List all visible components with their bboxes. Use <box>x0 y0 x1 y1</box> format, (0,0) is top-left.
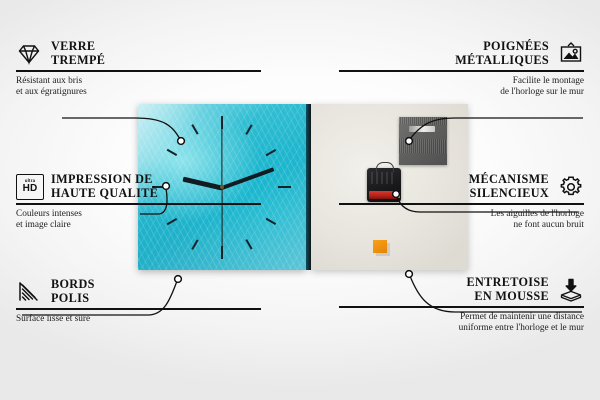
gear-icon <box>558 174 584 200</box>
feature-desc-line2: ne font aucun bruit <box>339 220 584 231</box>
clock-tick <box>245 124 252 134</box>
feature-impression-haute-qualite: ultra HD IMPRESSION DE HAUTE QUALITÉ Cou… <box>16 173 261 231</box>
feature-rule <box>339 70 584 71</box>
hanger-loop <box>376 162 394 172</box>
feature-desc-line2: uniforme entre l'horloge et le mur <box>339 323 584 334</box>
feature-header: VERRE TREMPÉ <box>16 40 261 67</box>
clock-tick <box>266 149 276 156</box>
polished-edge-icon <box>16 279 42 305</box>
feature-desc-line1: Résistant aux bris <box>16 76 261 87</box>
feature-header: ENTRETOISE EN MOUSSE <box>339 276 584 303</box>
foam-spacer-pad <box>373 240 387 253</box>
feature-title: MÉCANISME SILENCIEUX <box>469 173 549 200</box>
feature-bords-polis: BORDS POLIS Surface lisse et sûre <box>16 278 261 325</box>
feature-poignees-metalliques: POIGNÉES MÉTALLIQUES Facilite le montage… <box>339 40 584 98</box>
feature-desc-line1: Couleurs intenses <box>16 209 261 220</box>
feature-desc-line1: Surface lisse et sûre <box>16 314 261 325</box>
clock-tick <box>266 218 276 225</box>
feature-rule <box>339 306 584 307</box>
hanger-slot <box>409 126 435 132</box>
feature-rule <box>339 203 584 204</box>
feature-header: MÉCANISME SILENCIEUX <box>339 173 584 200</box>
feature-rule <box>16 308 261 309</box>
feature-title: POIGNÉES MÉTALLIQUES <box>455 40 549 67</box>
feature-header: POIGNÉES MÉTALLIQUES <box>339 40 584 67</box>
clock-tick <box>167 149 177 156</box>
feature-rule <box>16 203 261 204</box>
clock-tick <box>191 239 198 249</box>
feature-title: IMPRESSION DE HAUTE QUALITÉ <box>51 173 158 200</box>
feature-desc-line2: de l'horloge sur le mur <box>339 87 584 98</box>
feature-desc-line1: Facilite le montage <box>339 76 584 87</box>
feature-entretoise-en-mousse: ENTRETOISE EN MOUSSE Permet de maintenir… <box>339 276 584 334</box>
feature-header: BORDS POLIS <box>16 278 261 305</box>
infographic-canvas: VERRE TREMPÉ Résistant aux bris et aux é… <box>0 0 600 400</box>
feature-verre-trempe: VERRE TREMPÉ Résistant aux bris et aux é… <box>16 40 261 98</box>
feature-desc-line2: et image claire <box>16 220 261 231</box>
clock-tick <box>245 239 252 249</box>
feature-desc-line1: Les aiguilles de l'horloge <box>339 209 584 220</box>
feature-title: VERRE TREMPÉ <box>51 40 105 67</box>
diamond-icon <box>16 41 42 67</box>
ultra-hd-icon-main-text: HD <box>23 184 38 194</box>
picture-frame-hook-icon <box>558 41 584 67</box>
feature-desc-line2: et aux égratignures <box>16 87 261 98</box>
ultra-hd-icon: ultra HD <box>16 174 42 200</box>
feature-desc-line1: Permet de maintenir une distance <box>339 312 584 323</box>
feature-title: ENTRETOISE EN MOUSSE <box>466 276 549 303</box>
metal-hanger-plate <box>399 117 447 165</box>
clock-tick <box>278 186 291 188</box>
feature-rule <box>16 70 261 71</box>
feature-title: BORDS POLIS <box>51 278 95 305</box>
clock-tick <box>191 124 198 134</box>
feature-mecanisme-silencieux: MÉCANISME SILENCIEUX Les aiguilles de l'… <box>339 173 584 231</box>
foam-spacer-arrow-icon <box>558 277 584 303</box>
feature-header: ultra HD IMPRESSION DE HAUTE QUALITÉ <box>16 173 261 200</box>
